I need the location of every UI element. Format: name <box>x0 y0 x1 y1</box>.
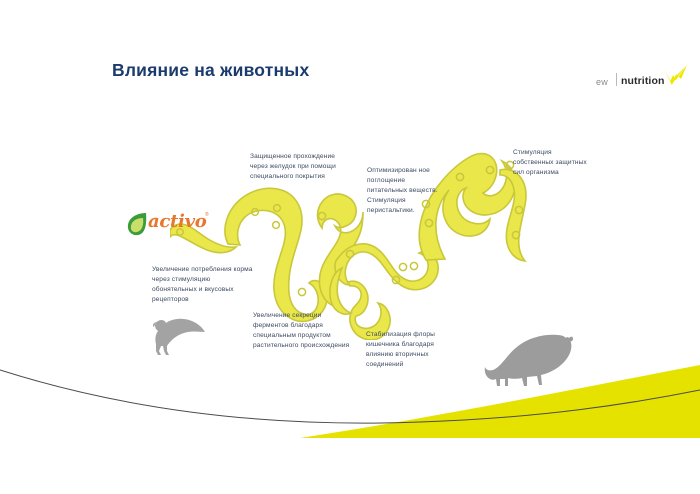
registered-mark: ® <box>205 212 209 218</box>
callout-feed-intake: Увеличение потребления корма через стиму… <box>152 265 256 305</box>
brand-divider <box>616 73 617 86</box>
callout-immune-stimulation: Стимуляция собственных защитных сил орга… <box>513 148 587 178</box>
callout-enzyme-secretion: Увеличение секреции ферментов благодаря … <box>253 311 351 351</box>
yellow-swoosh <box>300 365 700 438</box>
checkmark-icon <box>662 65 688 85</box>
brand-logo: ew nutrition <box>596 71 691 97</box>
leaf-icon <box>126 211 148 237</box>
slide-canvas: Влияние на животных ew nutrition <box>0 0 700 494</box>
brand-word: nutrition <box>621 75 664 87</box>
digestive-tract-diagram <box>170 140 550 340</box>
page-title: Влияние на животных <box>112 60 309 81</box>
activo-wordmark: activo <box>148 211 206 232</box>
activo-logo: activo ® <box>126 207 216 241</box>
callout-optimized-absorption: Оптимизирован ное поглощение питательных… <box>367 166 443 216</box>
bottom-decoration <box>0 360 700 494</box>
callout-protected-passage: Защищенное прохождение через желудок при… <box>250 152 350 182</box>
brand-prefix: ew <box>596 77 608 87</box>
